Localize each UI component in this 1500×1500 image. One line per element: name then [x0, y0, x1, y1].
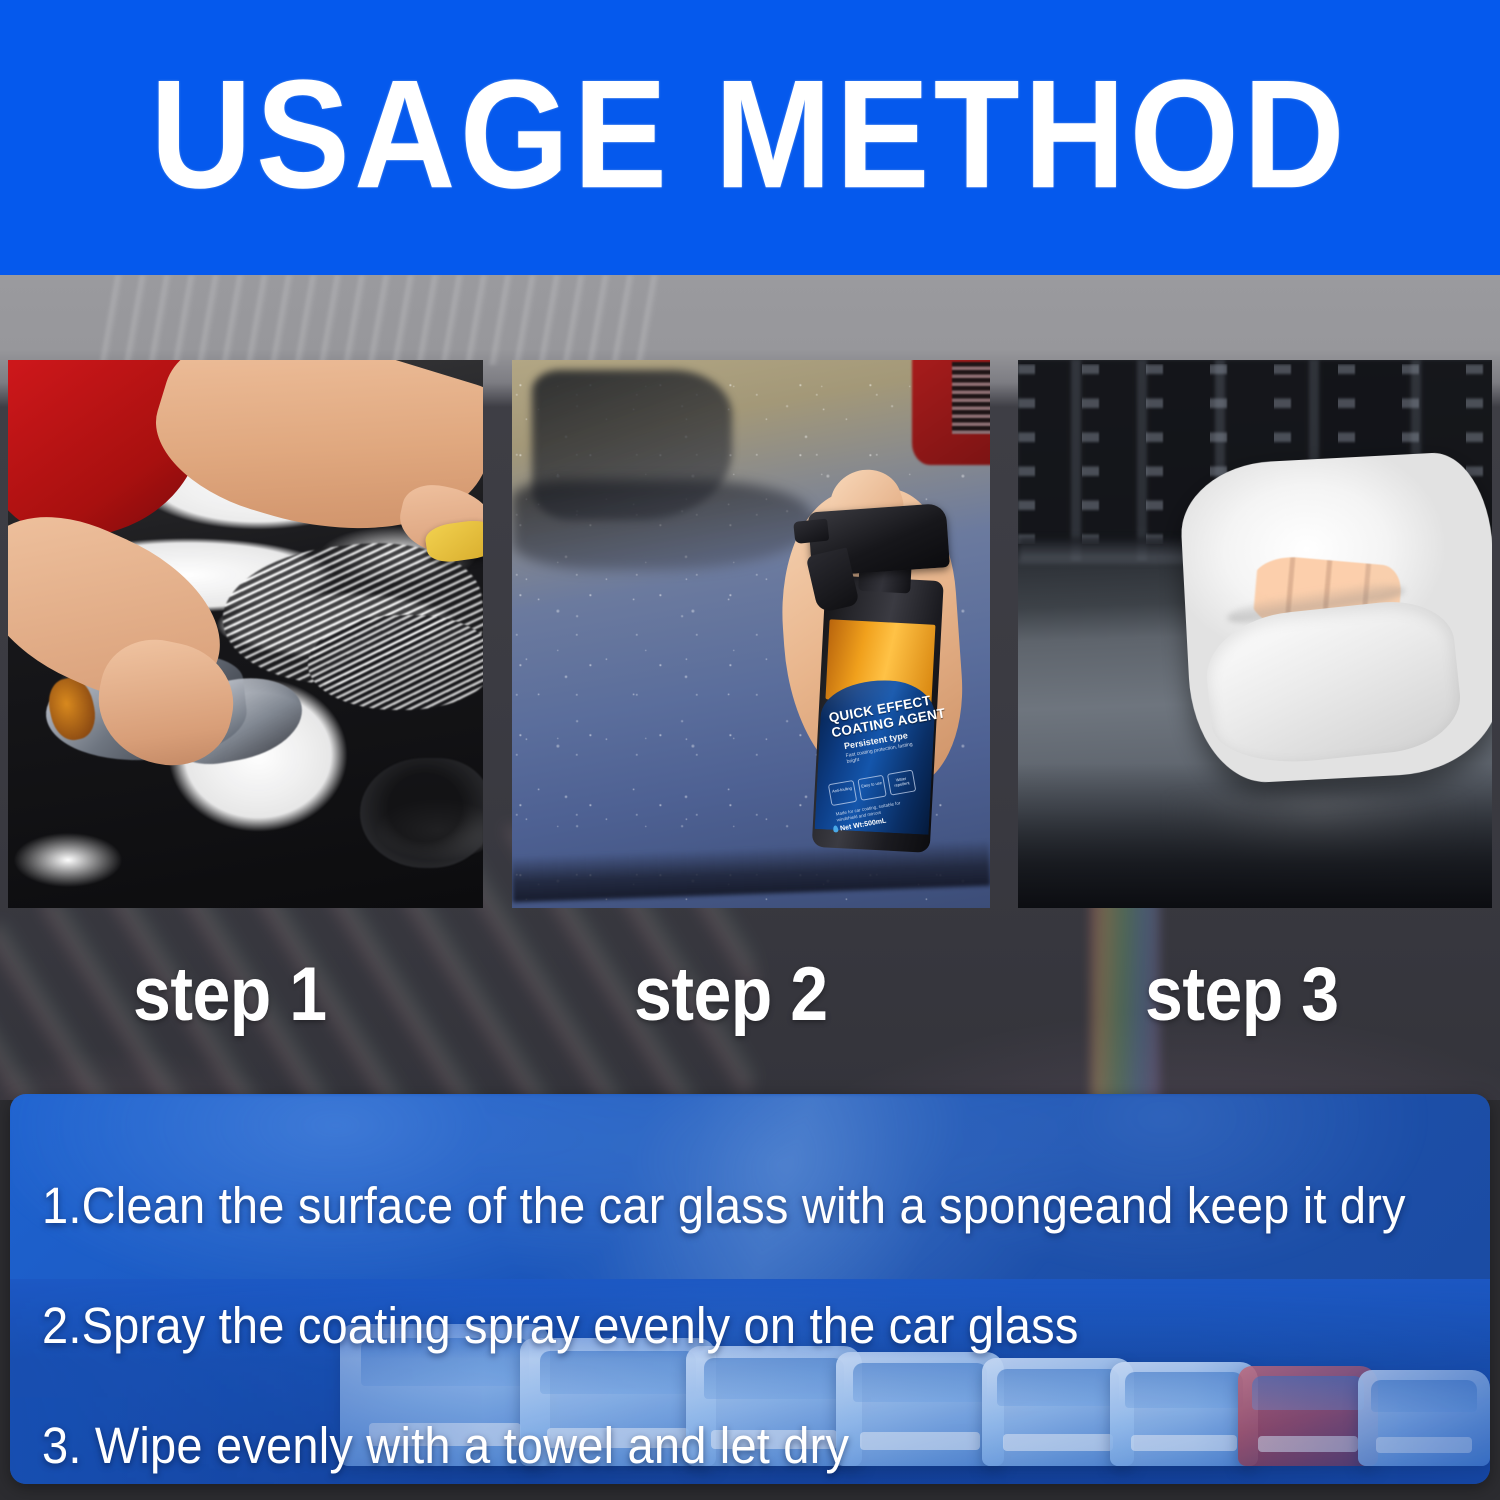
- instruction-line-3: 3. Wipe evenly with a towel and let dry: [42, 1420, 1466, 1471]
- windshield-reflection-secondary: [512, 480, 812, 570]
- instruction-line-2: 2.Spray the coating spray evenly on the …: [42, 1300, 1466, 1351]
- instructions-list: 1.Clean the surface of the car glass wit…: [42, 1180, 1466, 1467]
- bottle-badge: Water repellent: [887, 769, 916, 795]
- spray-nozzle: [793, 519, 829, 544]
- page-title: USAGE METHOD: [151, 57, 1350, 218]
- step-3-photo: [1018, 360, 1492, 908]
- instructions-panel: 1.Clean the surface of the car glass wit…: [10, 1094, 1490, 1484]
- product-spray-bottle: QUICK EFFECT COATING AGENT Persistent ty…: [812, 527, 947, 853]
- car-grille: [360, 758, 483, 868]
- water-drop-icon: [833, 825, 839, 833]
- step-2-label: step 2: [634, 956, 828, 1032]
- step-1-label: step 1: [133, 956, 327, 1032]
- surface-dark-band: [1018, 763, 1492, 908]
- foam-swirl-secondary: [308, 615, 483, 710]
- instruction-line-1: 1.Clean the surface of the car glass wit…: [42, 1180, 1466, 1231]
- step-photo-row: QUICK EFFECT COATING AGENT Persistent ty…: [0, 360, 1500, 908]
- step-3-label: step 3: [1145, 956, 1339, 1032]
- red-car-grille: [952, 362, 990, 434]
- usage-method-infographic: USAGE METHOD: [0, 0, 1500, 1500]
- step-1-photo: [8, 360, 483, 908]
- step-2-photo: QUICK EFFECT COATING AGENT Persistent ty…: [512, 360, 990, 908]
- bottle-badge: Easy to use: [857, 775, 886, 801]
- bottle-badge: Anti-fouling: [828, 780, 857, 806]
- header-banner: USAGE METHOD: [0, 0, 1500, 275]
